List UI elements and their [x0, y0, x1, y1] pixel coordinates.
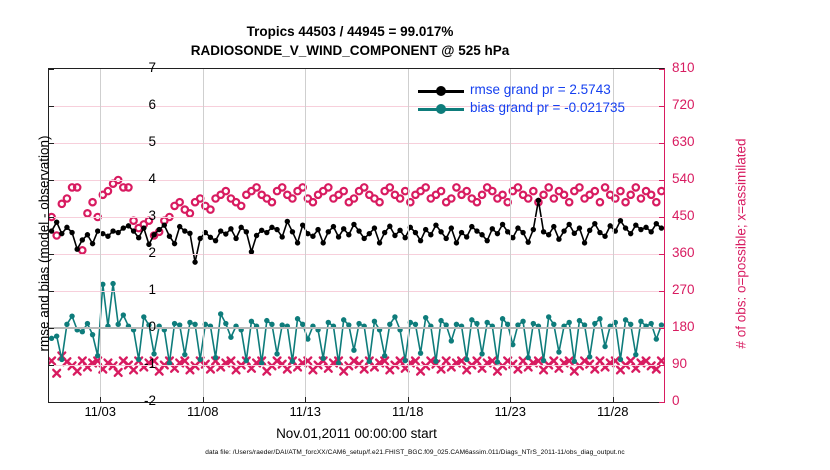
data-file-footer: data file: /Users/raeder/DAI/ATM_forcXX/…	[0, 449, 830, 456]
vertical-gridline	[613, 69, 614, 402]
x-tick-mark	[510, 397, 511, 403]
title-line-1: Tropics 44503 / 44945 = 99.017%	[0, 22, 700, 41]
y-axis-tick-left: -1	[116, 356, 156, 371]
legend-item-rmse: rmse grand pr = 2.5743	[418, 82, 648, 100]
plot-inner	[49, 69, 664, 402]
vertical-gridline	[100, 69, 101, 402]
y-axis-tick-right: 0	[672, 393, 718, 408]
y-tick-mark-right	[659, 217, 665, 218]
y-tick-mark-right	[659, 291, 665, 292]
plot-area	[48, 68, 665, 403]
legend-marker-rmse	[436, 86, 446, 96]
legend-label-bias: bias grand pr = -0.021735	[470, 100, 625, 115]
x-tick-mark	[408, 397, 409, 403]
y-axis-tick-left: 2	[116, 245, 156, 260]
y-axis-tick-left: 6	[116, 97, 156, 112]
vertical-gridline	[510, 69, 511, 402]
chart-title: Tropics 44503 / 44945 = 99.017% RADIOSON…	[0, 22, 700, 60]
x-axis-tick-label: 11/08	[168, 404, 238, 419]
y-axis-tick-right: 810	[672, 60, 718, 75]
y-axis-label-right: # of obs: o=possible; x=assimilated	[734, 79, 749, 409]
chart-page: Tropics 44503 / 44945 = 99.017% RADIOSON…	[0, 0, 830, 470]
y-tick-mark-right	[659, 402, 665, 403]
y-axis-tick-right: 720	[672, 97, 718, 112]
y-tick-mark-left	[48, 69, 54, 70]
y-tick-mark-right	[659, 180, 665, 181]
x-tick-mark	[100, 397, 101, 403]
vertical-gridline	[408, 69, 409, 402]
y-axis-tick-left: 1	[116, 282, 156, 297]
legend-marker-bias	[436, 104, 446, 114]
title-line-2: RADIOSONDE_V_WIND_COMPONENT @ 525 hPa	[0, 41, 700, 60]
vertical-gridline	[305, 69, 306, 402]
y-axis-tick-right: 450	[672, 208, 718, 223]
legend-item-bias: bias grand pr = -0.021735	[418, 100, 648, 118]
y-tick-mark-right	[659, 106, 665, 107]
y-axis-tick-right: 270	[672, 282, 718, 297]
x-axis-label: Nov.01,2011 00:00:00 start	[48, 426, 665, 441]
y-axis-tick-left: 4	[116, 171, 156, 186]
y-axis-tick-left: 3	[116, 208, 156, 223]
y-tick-mark-right	[659, 365, 665, 366]
y-axis-tick-left: 0	[116, 319, 156, 334]
x-axis-tick-label: 11/28	[578, 404, 648, 419]
y-tick-mark-right	[659, 254, 665, 255]
y-tick-mark-right	[659, 143, 665, 144]
x-axis-tick-label: 11/18	[373, 404, 443, 419]
x-axis-tick-label: 11/13	[270, 404, 340, 419]
x-axis-tick-label: 11/03	[65, 404, 135, 419]
vertical-gridline	[203, 69, 204, 402]
y-tick-mark-right	[659, 328, 665, 329]
x-tick-mark	[613, 397, 614, 403]
y-axis-tick-right: 360	[672, 245, 718, 260]
y-axis-label-left: rmse and bias (model - observation)	[37, 79, 52, 409]
y-axis-tick-right: 540	[672, 171, 718, 186]
x-axis-tick-label: 11/23	[475, 404, 545, 419]
legend-label-rmse: rmse grand pr = 2.5743	[470, 82, 611, 97]
data-layer	[49, 69, 664, 402]
x-tick-mark	[203, 397, 204, 403]
legend: rmse grand pr = 2.5743 bias grand pr = -…	[418, 82, 648, 118]
y-axis-tick-left: 7	[116, 60, 156, 75]
y-axis-tick-right: 180	[672, 319, 718, 334]
x-tick-mark	[305, 397, 306, 403]
y-axis-tick-right: 90	[672, 356, 718, 371]
y-axis-tick-right: 630	[672, 134, 718, 149]
y-axis-tick-left: 5	[116, 134, 156, 149]
y-tick-mark-right	[659, 69, 665, 70]
